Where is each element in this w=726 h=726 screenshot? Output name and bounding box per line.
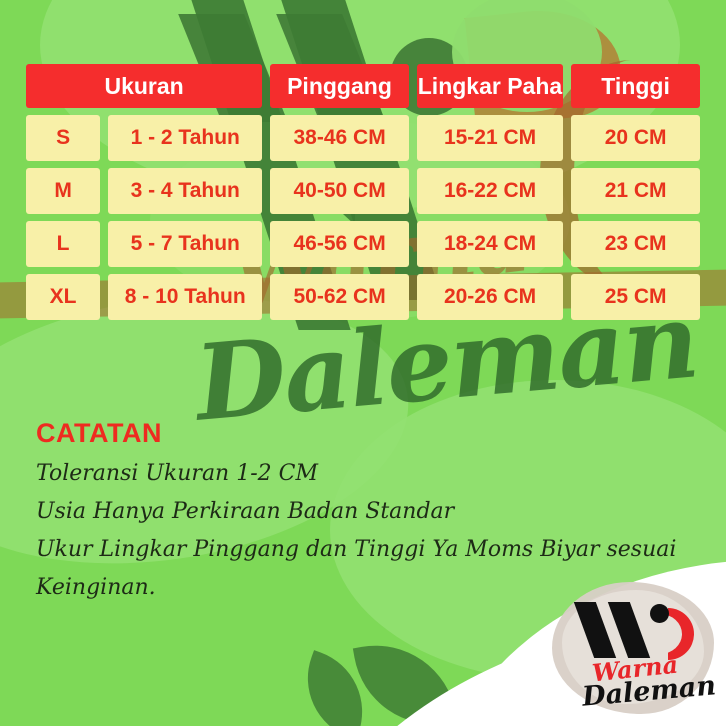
cell-size: L bbox=[26, 221, 100, 267]
size-chart-poster: Warna Daleman Ukuran Pinggang Lingkar Pa… bbox=[0, 0, 726, 726]
note-line: Toleransi Ukuran 1-2 CM bbox=[36, 455, 656, 493]
cell-thigh: 20-26 CM bbox=[417, 274, 563, 320]
cell-waist: 46-56 CM bbox=[270, 221, 409, 267]
cell-age: 8 - 10 Tahun bbox=[108, 274, 262, 320]
brand-logo: Warna Daleman bbox=[552, 582, 714, 718]
cell-size: XL bbox=[26, 274, 100, 320]
cell-height: 23 CM bbox=[571, 221, 700, 267]
table-row: S 1 - 2 Tahun 38-46 CM 15-21 CM 20 CM bbox=[26, 115, 700, 161]
table-header-lingkar-paha: Lingkar Paha bbox=[417, 64, 563, 108]
note-line: Ukur Lingkar Pinggang dan Tinggi Ya Moms… bbox=[36, 531, 656, 569]
table-header-pinggang: Pinggang bbox=[270, 64, 409, 108]
cell-waist: 38-46 CM bbox=[270, 115, 409, 161]
cell-height: 20 CM bbox=[571, 115, 700, 161]
cell-thigh: 16-22 CM bbox=[417, 168, 563, 214]
cell-height: 21 CM bbox=[571, 168, 700, 214]
cell-thigh: 15-21 CM bbox=[417, 115, 563, 161]
cell-waist: 40-50 CM bbox=[270, 168, 409, 214]
cell-age: 3 - 4 Tahun bbox=[108, 168, 262, 214]
cell-age: 1 - 2 Tahun bbox=[108, 115, 262, 161]
cell-age: 5 - 7 Tahun bbox=[108, 221, 262, 267]
table-row: XL 8 - 10 Tahun 50-62 CM 20-26 CM 25 CM bbox=[26, 274, 700, 320]
cell-thigh: 18-24 CM bbox=[417, 221, 563, 267]
cell-size: M bbox=[26, 168, 100, 214]
cell-size: S bbox=[26, 115, 100, 161]
size-table: Ukuran Pinggang Lingkar Paha Tinggi S 1 … bbox=[26, 64, 700, 327]
table-header-row: Ukuran Pinggang Lingkar Paha Tinggi bbox=[26, 64, 700, 108]
cell-waist: 50-62 CM bbox=[270, 274, 409, 320]
table-row: L 5 - 7 Tahun 46-56 CM 18-24 CM 23 CM bbox=[26, 221, 700, 267]
notes-title: CATATAN bbox=[36, 418, 656, 449]
table-header-tinggi: Tinggi bbox=[571, 64, 700, 108]
notes-section: CATATAN Toleransi Ukuran 1-2 CM Usia Han… bbox=[36, 418, 656, 607]
note-line: Usia Hanya Perkiraan Badan Standar bbox=[36, 493, 656, 531]
table-row: M 3 - 4 Tahun 40-50 CM 16-22 CM 21 CM bbox=[26, 168, 700, 214]
table-header-ukuran: Ukuran bbox=[26, 64, 262, 108]
cell-height: 25 CM bbox=[571, 274, 700, 320]
